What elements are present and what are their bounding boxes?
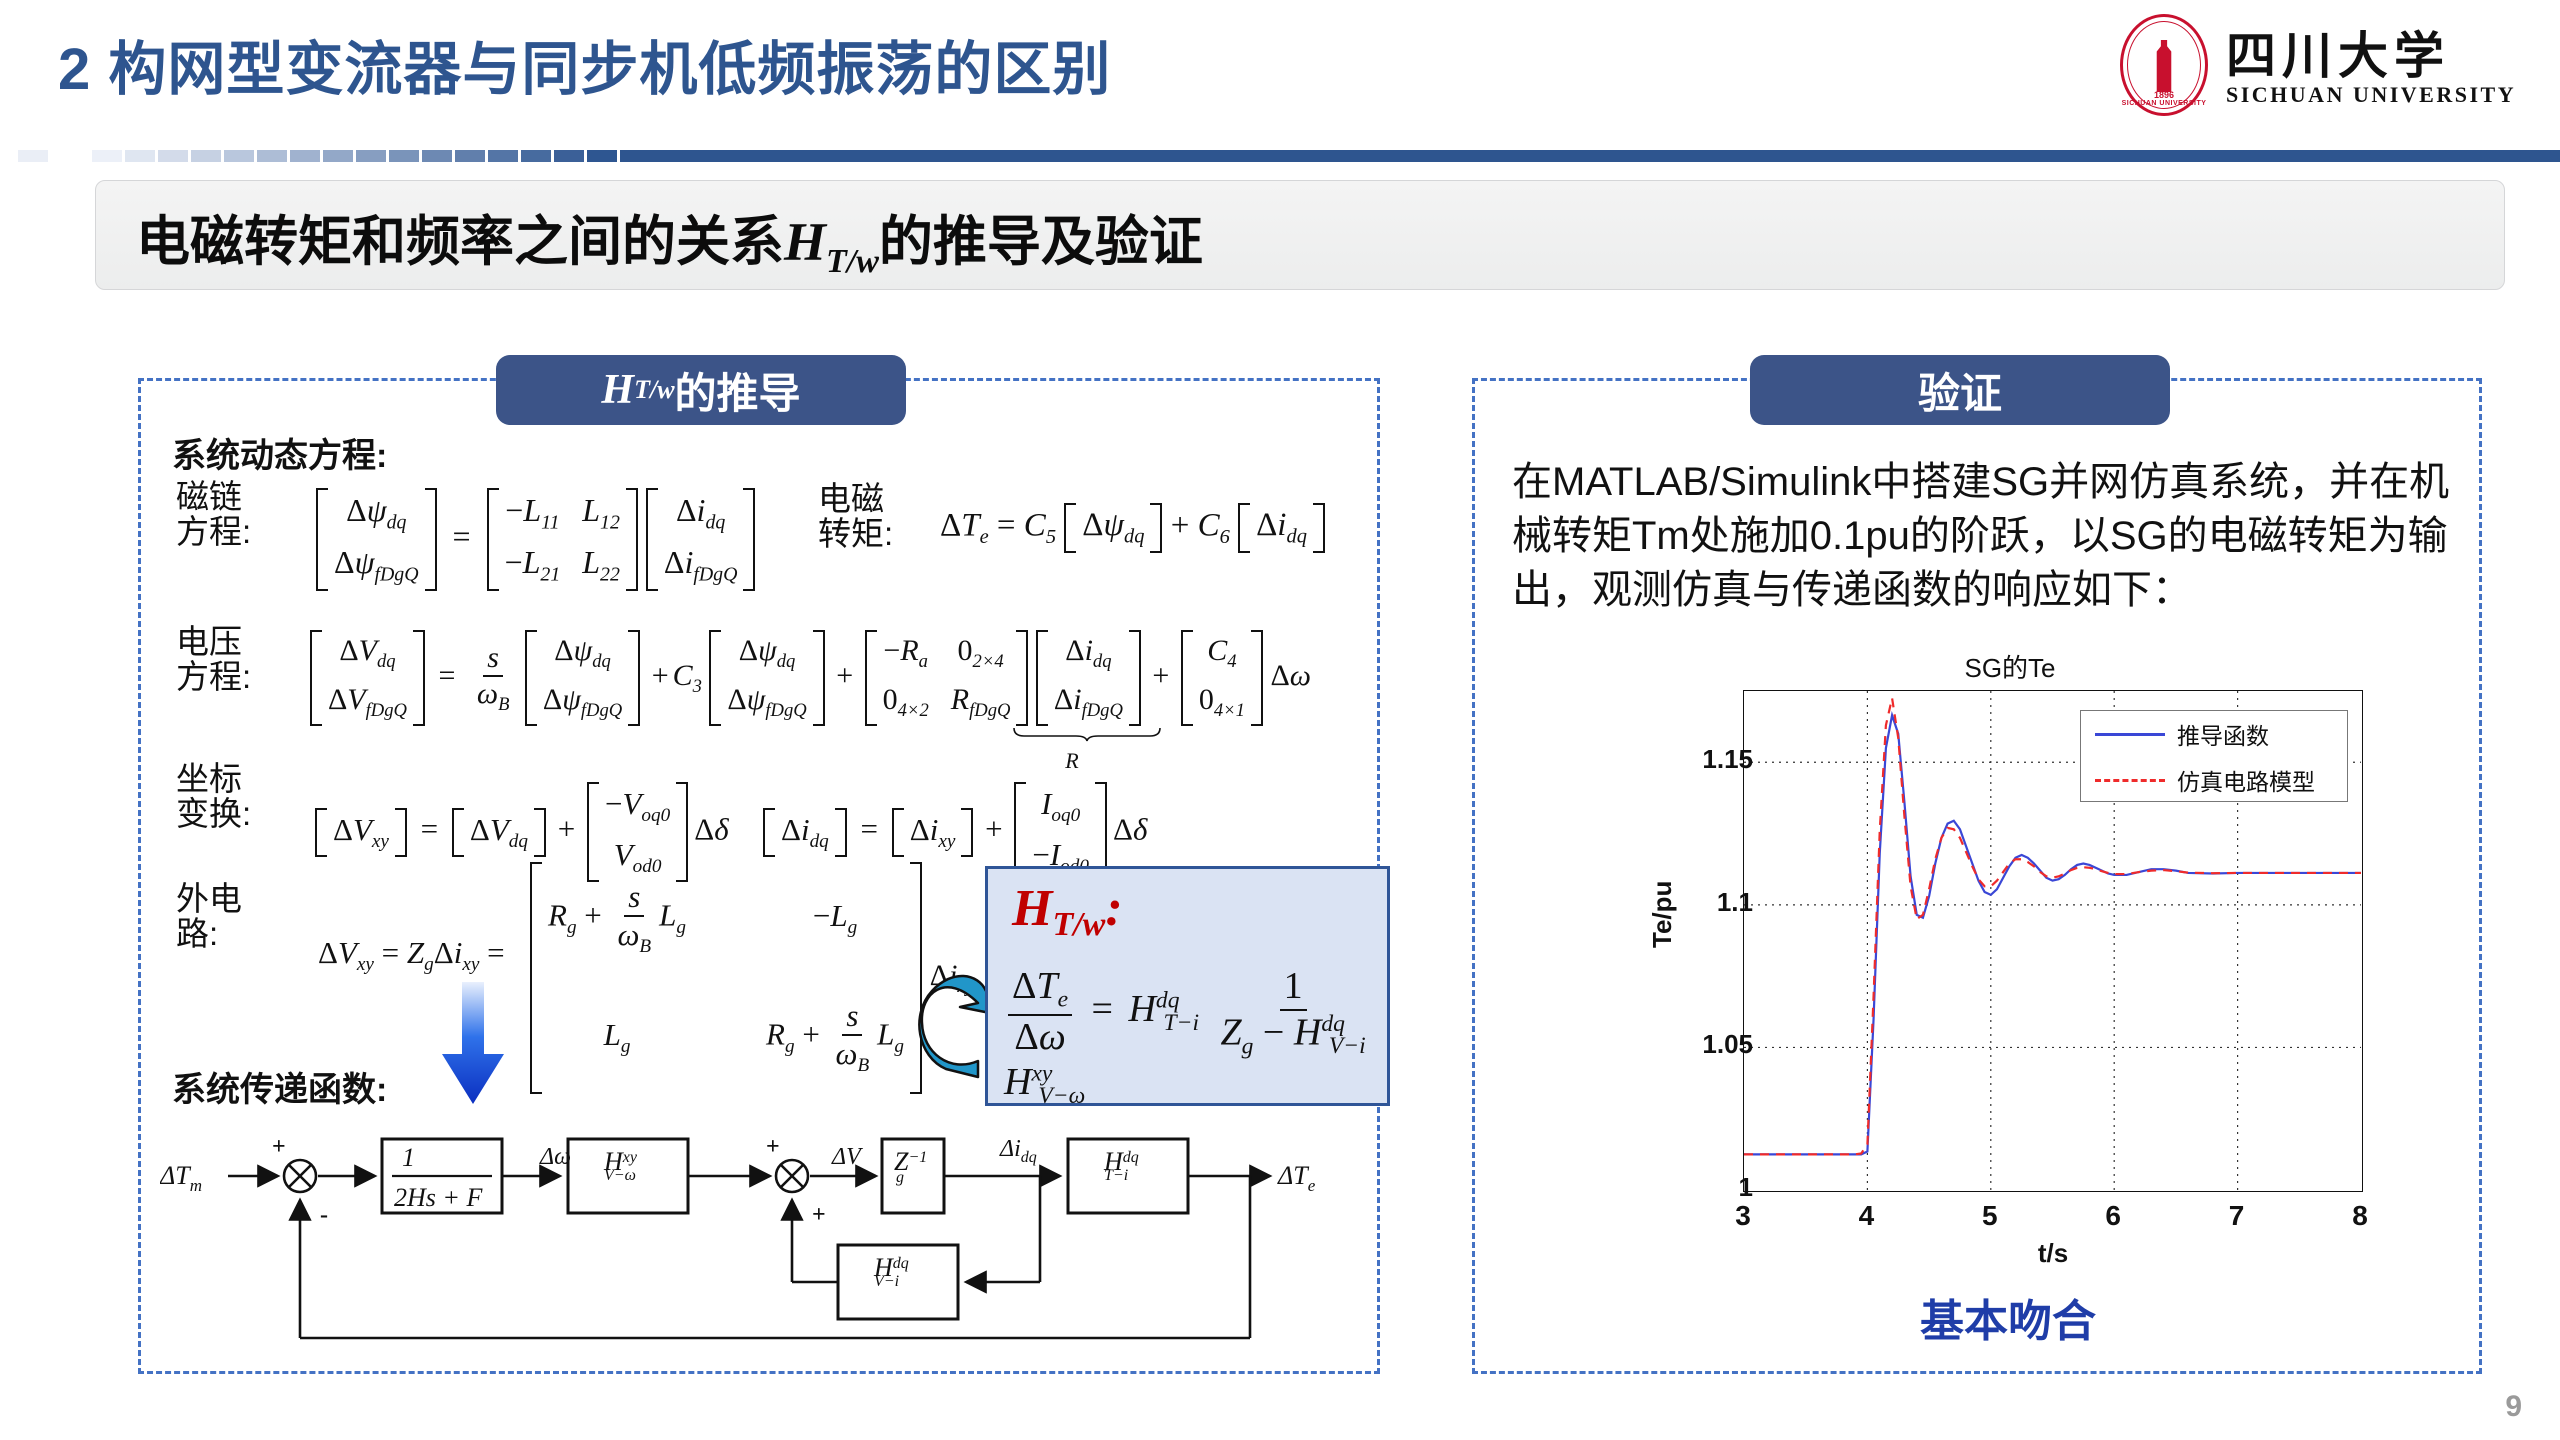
row-label-circuit: 外电 路:	[176, 882, 242, 951]
header-gradient-rule	[0, 150, 2560, 162]
page-number: 9	[2505, 1390, 2522, 1424]
svg-text:Δidq: Δidq	[999, 1136, 1037, 1166]
subtitle-symbol-main: H	[784, 212, 826, 272]
chart-x-axis-title: t/s	[1743, 1238, 2363, 1269]
svg-text:Z−1g: Z−1g	[894, 1147, 927, 1186]
row-label-torque-line1: 电磁	[818, 480, 884, 517]
header-rule-solid	[620, 150, 2560, 162]
header-rule-block	[125, 150, 155, 162]
down-arrow-icon	[440, 982, 506, 1106]
header-suffix: 的推导	[675, 360, 801, 421]
te-response-chart: SG的Te Te/pu t/s 推导函数仿真电路模型 11.051.11.153…	[1625, 648, 2395, 1278]
chart-legend: 推导函数仿真电路模型	[2080, 710, 2348, 802]
ht-w-formula: ΔTeΔω = HdqT−i 1 Zg − HdqV−i HxyV−ω	[1004, 965, 1387, 1110]
header-rule-block	[158, 150, 188, 162]
voltage-R-label: R	[1012, 748, 1132, 774]
ht-w-tag-main: H	[1012, 880, 1052, 937]
header-rule-block	[290, 150, 320, 162]
header-rule-dot	[18, 150, 48, 162]
ht-w-result-box: HT/w: ΔTeΔω = HdqT−i 1 Zg − HdqV−i HxyV−…	[985, 866, 1390, 1106]
svg-text:ΔTm: ΔTm	[160, 1161, 202, 1195]
chart-legend-swatch	[2095, 779, 2165, 782]
subtitle-prefix: 电磁转矩和频率之间的关系	[136, 212, 784, 272]
chart-legend-label: 推导函数	[2177, 717, 2269, 751]
chart-x-tick-label: 6	[2083, 1200, 2143, 1232]
subtitle-text: 电磁转矩和频率之间的关系HT/w的推导及验证	[136, 197, 1203, 281]
seal-year: 1896	[2118, 90, 2210, 100]
underbrace-icon	[1012, 726, 1162, 742]
chart-y-tick-label: 1.15	[1633, 744, 1753, 775]
verification-panel-header: 验证	[1750, 355, 2170, 425]
subtitle-symbol-sub: T/w	[826, 243, 879, 280]
logo-name-cn: 四川大学	[2226, 16, 2450, 88]
header-symbol-main: H	[601, 366, 634, 414]
svg-text:+: +	[812, 1202, 826, 1228]
circular-arrow-icon	[916, 965, 994, 1085]
svg-text:+: +	[272, 1134, 286, 1160]
circuit-equation-lhs: ΔVxy = ZgΔixy =	[318, 935, 505, 976]
section-transfer-function: 系统传递函数:	[172, 1062, 387, 1111]
ht-w-tag-colon: :	[1105, 880, 1122, 937]
ht-w-tag-sub: T/w	[1052, 906, 1105, 943]
flux-equation: ΔψdqΔψfDgQ = −L11L12 −L21L22 ΔidqΔifDgQ	[316, 488, 755, 591]
header-rule-block	[323, 150, 353, 162]
ht-w-tag: HT/w:	[1012, 879, 1123, 944]
row-label-coord-line1: 坐标	[176, 760, 242, 797]
header-rule-block	[257, 150, 287, 162]
row-label-coord-line2: 变换:	[176, 795, 251, 832]
chart-legend-item: 推导函数	[2081, 711, 2349, 757]
header-rule-block	[224, 150, 254, 162]
seal-arc-text: SICHUAN UNIVERSITY	[2118, 100, 2210, 107]
header-symbol-sub: T/w	[634, 375, 674, 405]
chart-x-tick-label: 3	[1713, 1200, 1773, 1232]
control-block-diagram: ΔTm ΔTe 1 2Hs + F Δω HxyV−ω ΔV Z−1g Δidq…	[160, 1122, 1360, 1352]
header-rule-block	[191, 150, 221, 162]
row-label-torque-line2: 转矩:	[818, 515, 893, 552]
logo-name-en: SICHUAN UNIVERSITY	[2226, 82, 2516, 108]
header-rule-block	[389, 150, 419, 162]
row-label-circuit-line2: 路:	[176, 915, 218, 952]
chart-x-tick-label: 4	[1836, 1200, 1896, 1232]
row-label-flux: 磁链 方程:	[176, 480, 251, 549]
svg-text:-: -	[320, 1202, 328, 1228]
university-seal-icon: 1896 SICHUAN UNIVERSITY	[2118, 14, 2214, 118]
header-rule-block	[422, 150, 452, 162]
header-rule-block	[587, 150, 617, 162]
svg-text:HxyV−ω: HxyV−ω	[603, 1147, 638, 1184]
svg-text:ΔV: ΔV	[831, 1144, 863, 1170]
row-label-voltage-line1: 电压	[176, 623, 242, 660]
header-rule-block	[455, 150, 485, 162]
torque-equation: ΔTe = C5 Δψdq + C6 Δidq	[940, 503, 1325, 553]
chart-legend-swatch	[2095, 733, 2165, 736]
row-label-flux-line2: 方程:	[176, 513, 251, 550]
row-label-circuit-line1: 外电	[176, 880, 242, 917]
chart-x-tick-label: 7	[2207, 1200, 2267, 1232]
chart-y-tick-label: 1.05	[1633, 1029, 1753, 1060]
chart-x-tick-label: 5	[1960, 1200, 2020, 1232]
svg-text:Δω: Δω	[539, 1144, 571, 1170]
header-rule-block	[488, 150, 518, 162]
sichuan-university-logo: 1896 SICHUAN UNIVERSITY 四川大学 SICHUAN UNI…	[2118, 8, 2538, 116]
svg-text:2Hs + F: 2Hs + F	[394, 1183, 483, 1212]
voltage-equation: ΔVdqΔVfDgQ = sωB ΔψdqΔψfDgQ +C3 ΔψdqΔψfD…	[310, 630, 1311, 726]
header-rule-block	[92, 150, 122, 162]
voltage-equation-R-brace: R	[1012, 722, 1132, 774]
svg-text:HdqV−i: HdqV−i	[873, 1253, 909, 1290]
conclusion-text: 基本吻合	[1920, 1285, 2096, 1349]
svg-text:HdqT−i: HdqT−i	[1103, 1147, 1139, 1184]
verification-body-text: 在MATLAB/Simulink中搭建SG并网仿真系统，并在机械转矩Tm处施加0…	[1512, 455, 2462, 617]
header-rule-block	[554, 150, 584, 162]
row-label-voltage: 电压 方程:	[176, 625, 251, 694]
svg-text:1: 1	[402, 1143, 415, 1172]
chart-y-tick-label: 1.1	[1633, 887, 1753, 918]
header-rule-block	[356, 150, 386, 162]
svg-text:+: +	[766, 1134, 780, 1160]
chart-legend-label: 仿真电路模型	[2177, 763, 2315, 797]
chart-title: SG的Te	[1625, 648, 2395, 685]
row-label-coord: 坐标 变换:	[176, 762, 251, 831]
chart-legend-item: 仿真电路模型	[2081, 757, 2349, 803]
page-title: 2 构网型变流器与同步机低频振荡的区别	[58, 22, 1111, 106]
subtitle-bar: 电磁转矩和频率之间的关系HT/w的推导及验证	[95, 180, 2505, 290]
derivation-panel-header: HT/w 的推导	[496, 355, 906, 425]
row-label-voltage-line2: 方程:	[176, 658, 251, 695]
chart-x-tick-label: 8	[2330, 1200, 2390, 1232]
row-label-flux-line1: 磁链	[176, 478, 242, 515]
svg-text:ΔTe: ΔTe	[1277, 1161, 1316, 1195]
row-label-torque: 电磁 转矩:	[818, 482, 893, 551]
subtitle-suffix: 的推导及验证	[879, 212, 1203, 272]
chart-y-tick-label: 1	[1633, 1172, 1753, 1203]
header-rule-block	[521, 150, 551, 162]
circuit-equation-matrix: Rg + sωBLg −Lg Lg Rg + sωBLg Δixy	[530, 862, 974, 1094]
section-dynamic-equations: 系统动态方程:	[172, 428, 387, 477]
